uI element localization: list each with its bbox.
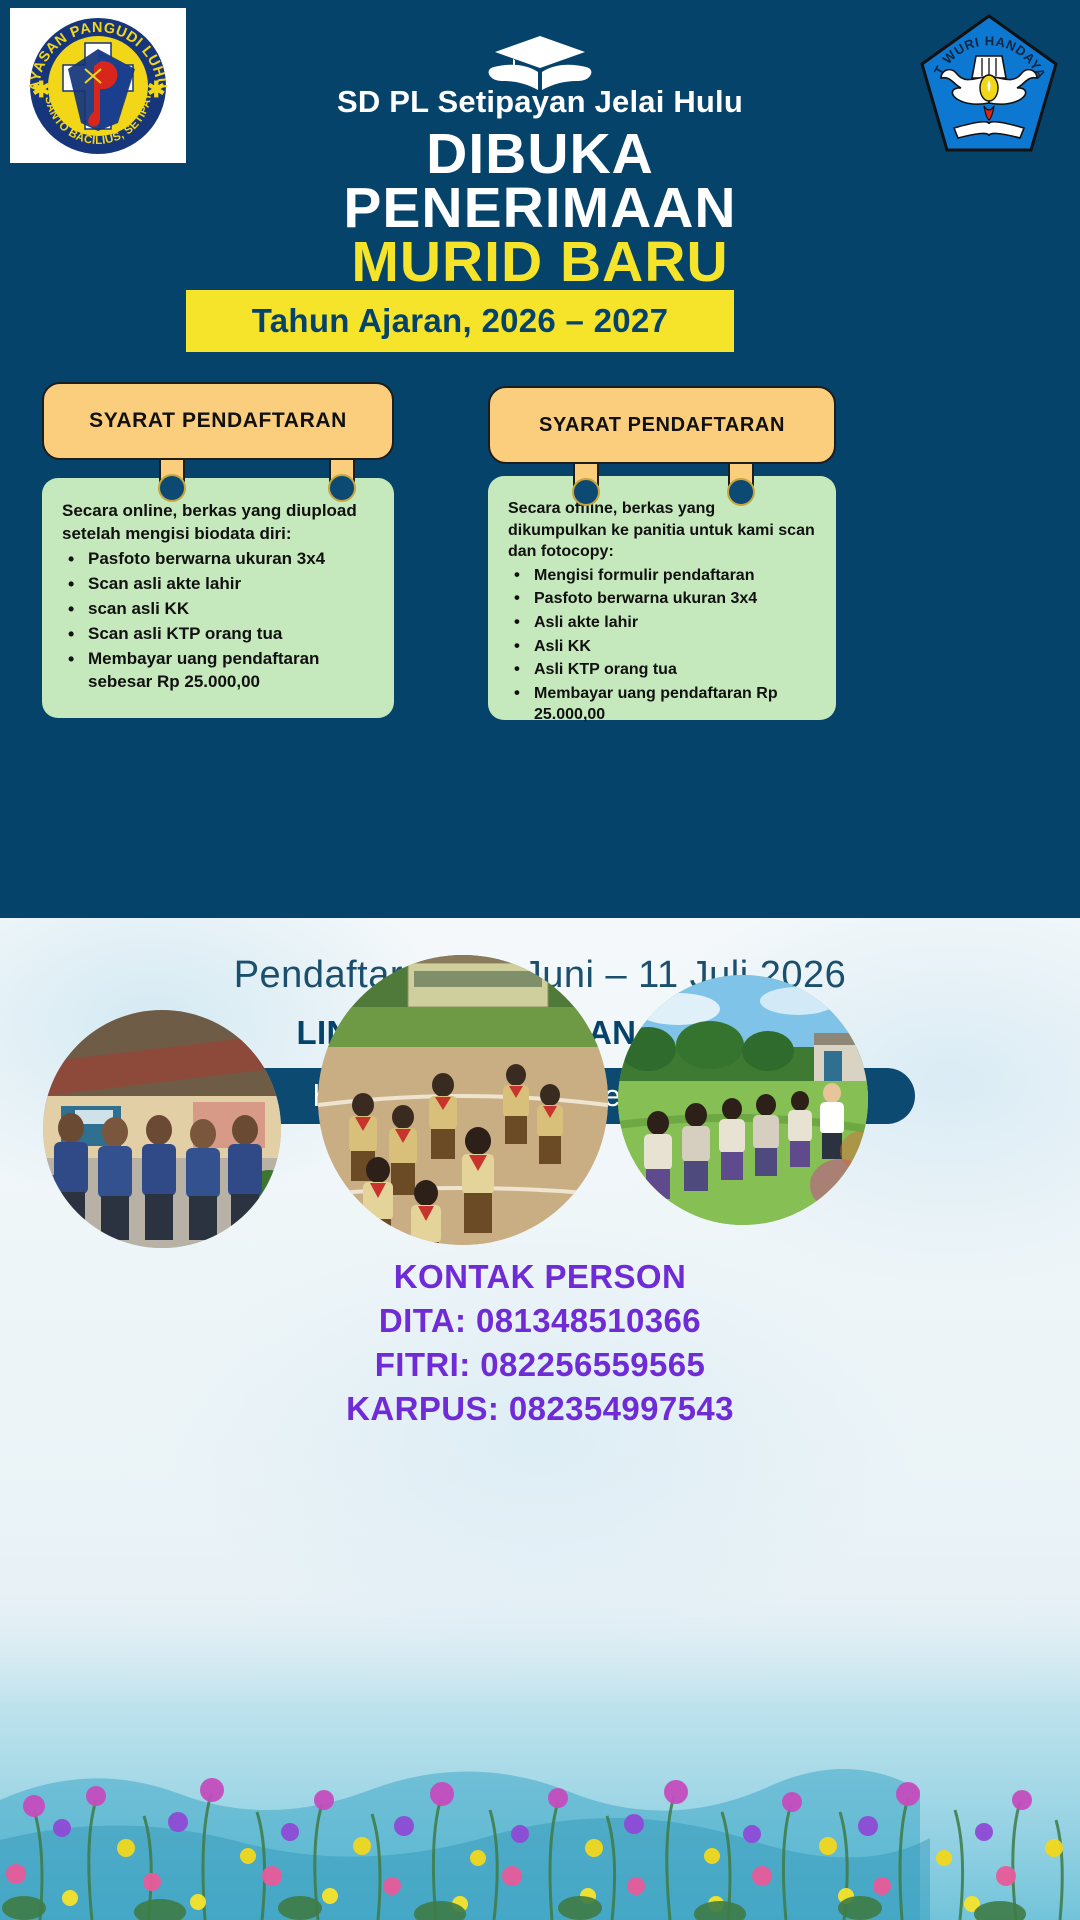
requirements-list-online: Pasfoto berwarna ukuran 3x4 Scan asli ak… <box>62 548 374 694</box>
list-item: Asli akte lahir <box>508 612 816 634</box>
list-item: Membayar uang pendaftaran Rp 25.000,00 <box>508 683 816 726</box>
contact-entry-dita: DITA: 081348510366 <box>0 1299 1080 1343</box>
board-body-online: Secara online, berkas yang diupload sete… <box>42 478 394 718</box>
title-line-2: PENERIMAAN <box>0 180 1080 237</box>
list-item: Pasfoto berwarna ukuran 3x4 <box>62 548 374 571</box>
photo-teachers-in-front-of-school <box>43 1010 281 1248</box>
peg-ball-right <box>727 478 755 506</box>
academic-year-text: Tahun Ajaran, 2026 – 2027 <box>252 302 669 340</box>
board-body-offline: Secara offline, berkas yang dikumpulkan … <box>488 476 836 720</box>
header-section: YAYASAN PANGUDI LUHUR SD SANTO BACILIUS,… <box>0 0 1080 918</box>
photo-students-scout-ceremony <box>318 955 608 1245</box>
list-item: Asli KK <box>508 636 816 658</box>
contact-entry-fitri: FITRI: 082256559565 <box>0 1343 1080 1387</box>
requirements-list-offline: Mengisi formulir pendaftaran Pasfoto ber… <box>508 565 816 726</box>
peg-ball-left <box>572 478 600 506</box>
contact-section: KONTAK PERSON DITA: 081348510366 FITRI: … <box>0 1255 1080 1431</box>
title-line-1: DIBUKA <box>0 126 1080 183</box>
list-item: scan asli KK <box>62 598 374 621</box>
board-intro-online: Secara online, berkas yang diupload sete… <box>62 500 374 546</box>
list-item: Scan asli KTP orang tua <box>62 623 374 646</box>
requirements-board-offline: SYARAT PENDAFTARAN Secara offline, berka… <box>488 382 836 722</box>
contact-entry-karpus: KARPUS: 082354997543 <box>0 1387 1080 1431</box>
list-item: Mengisi formulir pendaftaran <box>508 565 816 587</box>
photo-students-lined-up-outdoors <box>618 975 868 1225</box>
list-item: Pasfoto berwarna ukuran 3x4 <box>508 588 816 610</box>
board-intro-offline: Secara offline, berkas yang dikumpulkan … <box>508 498 816 563</box>
peg-ball-left <box>158 474 186 502</box>
poster-root: YAYASAN PANGUDI LUHUR SD SANTO BACILIUS,… <box>0 0 1080 1920</box>
academic-year-banner: Tahun Ajaran, 2026 – 2027 <box>186 290 734 352</box>
title-line-3: MURID BARU <box>0 234 1080 291</box>
contact-title: KONTAK PERSON <box>0 1255 1080 1299</box>
floral-border-decoration <box>0 1590 1080 1920</box>
board-heading-offline: SYARAT PENDAFTARAN <box>488 386 836 464</box>
board-heading-online: SYARAT PENDAFTARAN <box>42 382 394 460</box>
list-item: Asli KTP orang tua <box>508 659 816 681</box>
list-item: Membayar uang pendaftaran sebesar Rp 25.… <box>62 648 374 694</box>
peg-ball-right <box>328 474 356 502</box>
requirements-board-online: SYARAT PENDAFTARAN Secara online, berkas… <box>42 382 394 722</box>
list-item: Scan asli akte lahir <box>62 573 374 596</box>
school-name: SD PL Setipayan Jelai Hulu <box>0 84 1080 120</box>
